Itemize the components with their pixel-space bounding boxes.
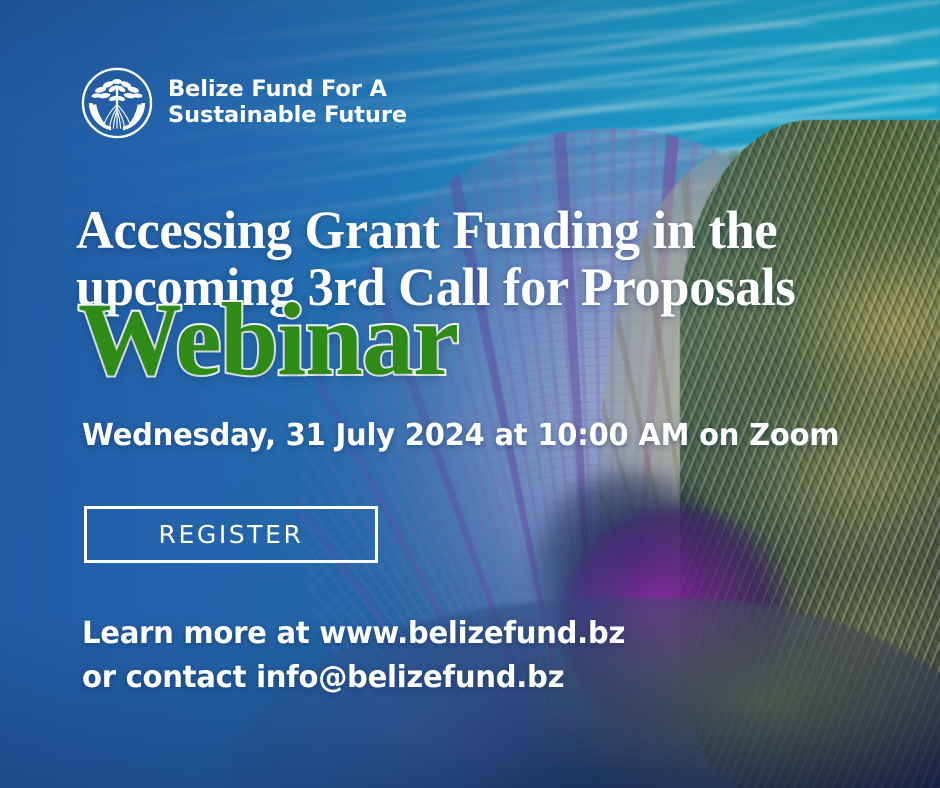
poster-content: Belize Fund For A Sustainable Future Acc… — [0, 0, 940, 788]
event-dateline: Wednesday, 31 July 2024 at 10:00 AM on Z… — [82, 418, 839, 453]
webinar-promo-poster: Belize Fund For A Sustainable Future Acc… — [0, 0, 940, 788]
event-type-label: Webinar — [78, 288, 458, 392]
contact-info: Learn more at www.belizefund.bz or conta… — [82, 612, 625, 700]
brand-logo-lockup: Belize Fund For A Sustainable Future — [80, 66, 407, 140]
mangrove-tree-in-hands-circle-logo-icon — [80, 66, 154, 140]
register-button-label: REGISTER — [158, 520, 303, 549]
organization-name: Belize Fund For A Sustainable Future — [168, 77, 407, 128]
register-button[interactable]: REGISTER — [84, 506, 378, 563]
